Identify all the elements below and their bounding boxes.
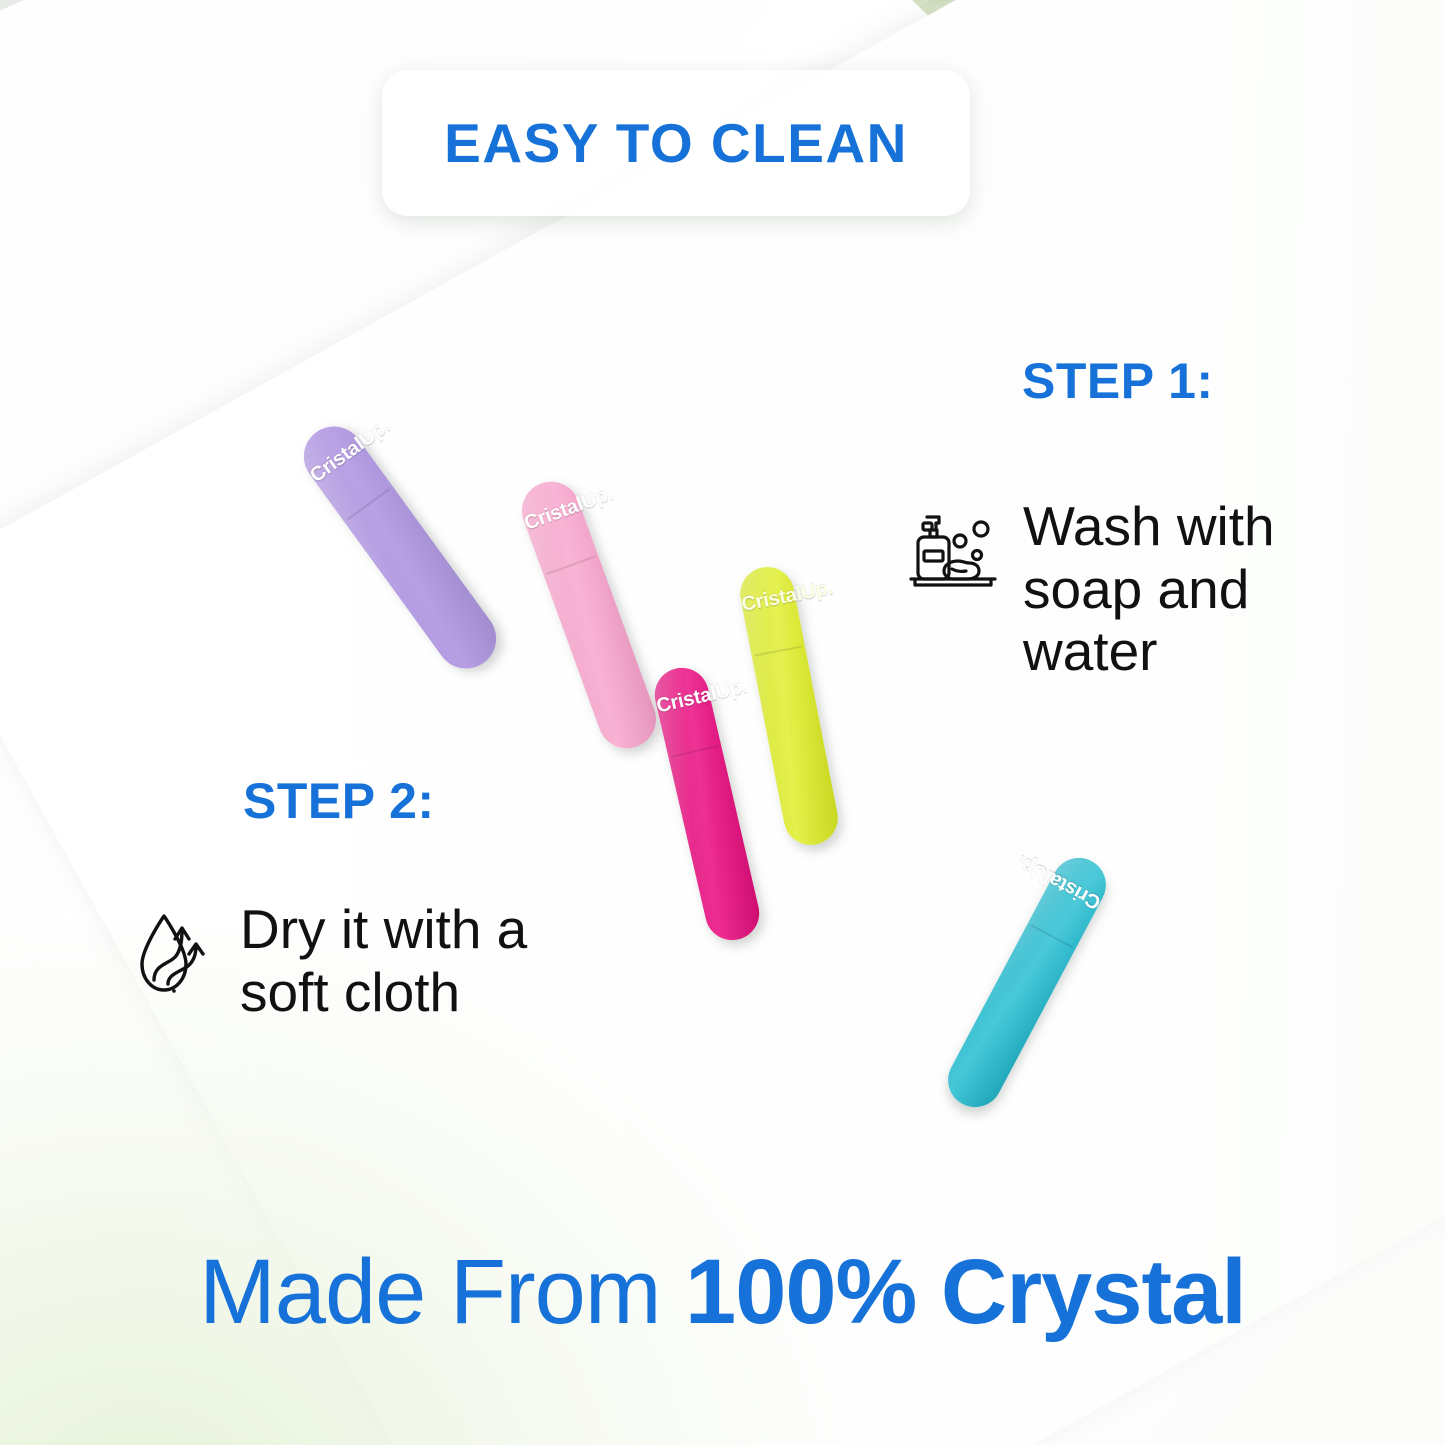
footer-tagline: Made From 100% Crystal [0, 1240, 1445, 1345]
step-2-heading: STEP 2: [243, 772, 435, 830]
soap-dispenser-icon [905, 507, 1001, 593]
step-2-block: Dry it with a soft cloth [132, 898, 612, 1023]
infographic-canvas: EASY TO CLEAN STEP 1: [0, 0, 1445, 1445]
water-drop-drying-icon [132, 908, 218, 1000]
tagline-heavy-part: 100% Crystal [685, 1241, 1246, 1343]
step-2-text: Dry it with a soft cloth [240, 898, 612, 1023]
step-1-text: Wash with soap and water [1023, 495, 1375, 683]
title-badge: EASY TO CLEAN [382, 70, 970, 216]
page-title: EASY TO CLEAN [444, 111, 908, 175]
tagline-light-part: Made From [199, 1241, 685, 1343]
step-1-block: Wash with soap and water [905, 495, 1375, 683]
step-1-heading: STEP 1: [1022, 352, 1214, 410]
